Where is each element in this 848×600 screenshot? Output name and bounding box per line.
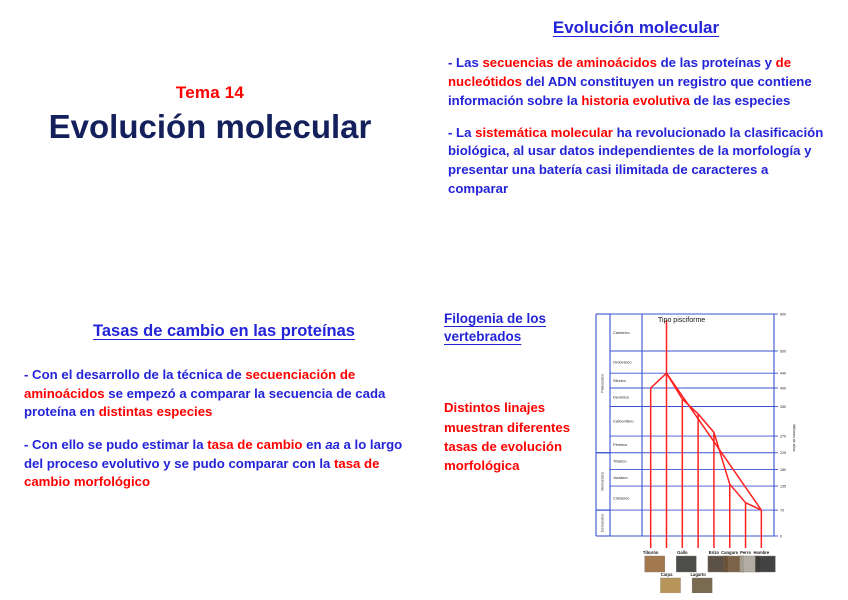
svg-text:Cenozoico: Cenozoico: [600, 514, 605, 532]
svg-text:Paleozoico: Paleozoico: [600, 374, 605, 393]
svg-text:Lagarto: Lagarto: [690, 572, 706, 577]
text-run: - Con ello se pudo estimar la: [24, 437, 207, 452]
svg-text:Devónico: Devónico: [613, 395, 629, 400]
text-run: distintas especies: [99, 404, 213, 419]
protein-rates-section: Tasas de cambio en las proteínas - Con e…: [24, 322, 424, 492]
text-run: - Con el desarrollo de la técnica de: [24, 367, 245, 382]
molecular-evolution-paragraph-1: - Las secuencias de aminoácidos de las p…: [440, 54, 832, 110]
chart-gridlines: [610, 314, 778, 536]
text-run: historia evolutiva: [581, 93, 693, 108]
svg-text:270: 270: [780, 435, 786, 439]
text-run: aa: [325, 437, 340, 452]
svg-text:Jurásico: Jurásico: [613, 475, 628, 480]
text-run: tasa de cambio: [207, 437, 306, 452]
molecular-evolution-paragraph-2: - La sistemática molecular ha revolucion…: [440, 124, 832, 199]
text-run: en: [306, 437, 325, 452]
svg-text:Triásico: Triásico: [613, 458, 626, 463]
protein-rates-heading: Tasas de cambio en las proteínas: [24, 322, 424, 342]
svg-text:Cámbrico: Cámbrico: [613, 330, 630, 335]
chart-title: Tipo pisciforme: [658, 317, 705, 324]
chart-period-labels: CámbricoOrdovícicoSilúricoDevónicoCarbon…: [613, 330, 634, 501]
svg-text:440: 440: [780, 372, 786, 376]
svg-text:Carbonífero: Carbonífero: [613, 419, 634, 424]
svg-text:Erizo: Erizo: [709, 550, 720, 555]
text-run: de las especies: [694, 93, 791, 108]
phylogeny-text-section: Filogenia de los vertebrados Distintos l…: [444, 310, 584, 475]
svg-text:Ordovícico: Ordovícico: [613, 360, 632, 365]
svg-text:Mesozoico: Mesozoico: [600, 472, 605, 491]
svg-text:400: 400: [780, 386, 786, 390]
chart-tree-lines: [651, 320, 762, 548]
svg-text:Perro: Perro: [740, 550, 751, 555]
svg-text:Canguro: Canguro: [721, 550, 739, 555]
lesson-number-label: Tema 14: [20, 84, 400, 103]
svg-text:Cretácico: Cretácico: [613, 495, 629, 500]
svg-text:Gallo: Gallo: [677, 550, 688, 555]
phylogeny-note: Distintos linajes muestran diferentes ta…: [444, 398, 584, 475]
chart-axis-title: Millones de años: [792, 425, 796, 452]
svg-text:Silúrico: Silúrico: [613, 378, 626, 383]
svg-text:350: 350: [780, 405, 786, 409]
text-run: sistemática molecular: [475, 125, 616, 140]
svg-text:Hombre: Hombre: [753, 550, 769, 555]
phylogeny-heading: Filogenia de los vertebrados: [444, 310, 584, 346]
protein-rates-paragraph-2: - Con ello se pudo estimar la tasa de ca…: [24, 436, 424, 492]
svg-text:225: 225: [780, 451, 786, 455]
text-run: secuencias de aminoácidos: [482, 55, 660, 70]
svg-text:600: 600: [780, 312, 786, 316]
phylogeny-chart: CámbricoOrdovícicoSilúricoDevónicoCarbon…: [588, 308, 814, 593]
slide-canvas: Tema 14 Evolución molecular Evolución mo…: [0, 0, 848, 600]
molecular-evolution-section: Evolución molecular - Las secuencias de …: [440, 18, 832, 199]
text-run: - Las: [448, 55, 482, 70]
protein-rates-paragraph-1: - Con el desarrollo de la técnica de sec…: [24, 366, 424, 422]
svg-text:0: 0: [780, 534, 782, 538]
page-title: Evolución molecular: [20, 107, 400, 147]
svg-text:500: 500: [780, 349, 786, 353]
svg-text:70: 70: [780, 509, 784, 513]
molecular-evolution-heading: Evolución molecular: [440, 18, 832, 38]
chart-tick-labels: 600500440400350270225180135700: [780, 312, 786, 538]
svg-text:Carpa: Carpa: [661, 572, 674, 577]
svg-text:Tiburón: Tiburón: [643, 550, 659, 555]
text-run: - La: [448, 125, 475, 140]
text-run: de las proteínas y: [661, 55, 776, 70]
svg-text:180: 180: [780, 468, 786, 472]
svg-text:135: 135: [780, 484, 786, 488]
title-block: Tema 14 Evolución molecular: [20, 84, 400, 146]
svg-text:Pérmico: Pérmico: [613, 442, 627, 447]
phylogeny-figure: CámbricoOrdovícicoSilúricoDevónicoCarbon…: [588, 308, 814, 593]
